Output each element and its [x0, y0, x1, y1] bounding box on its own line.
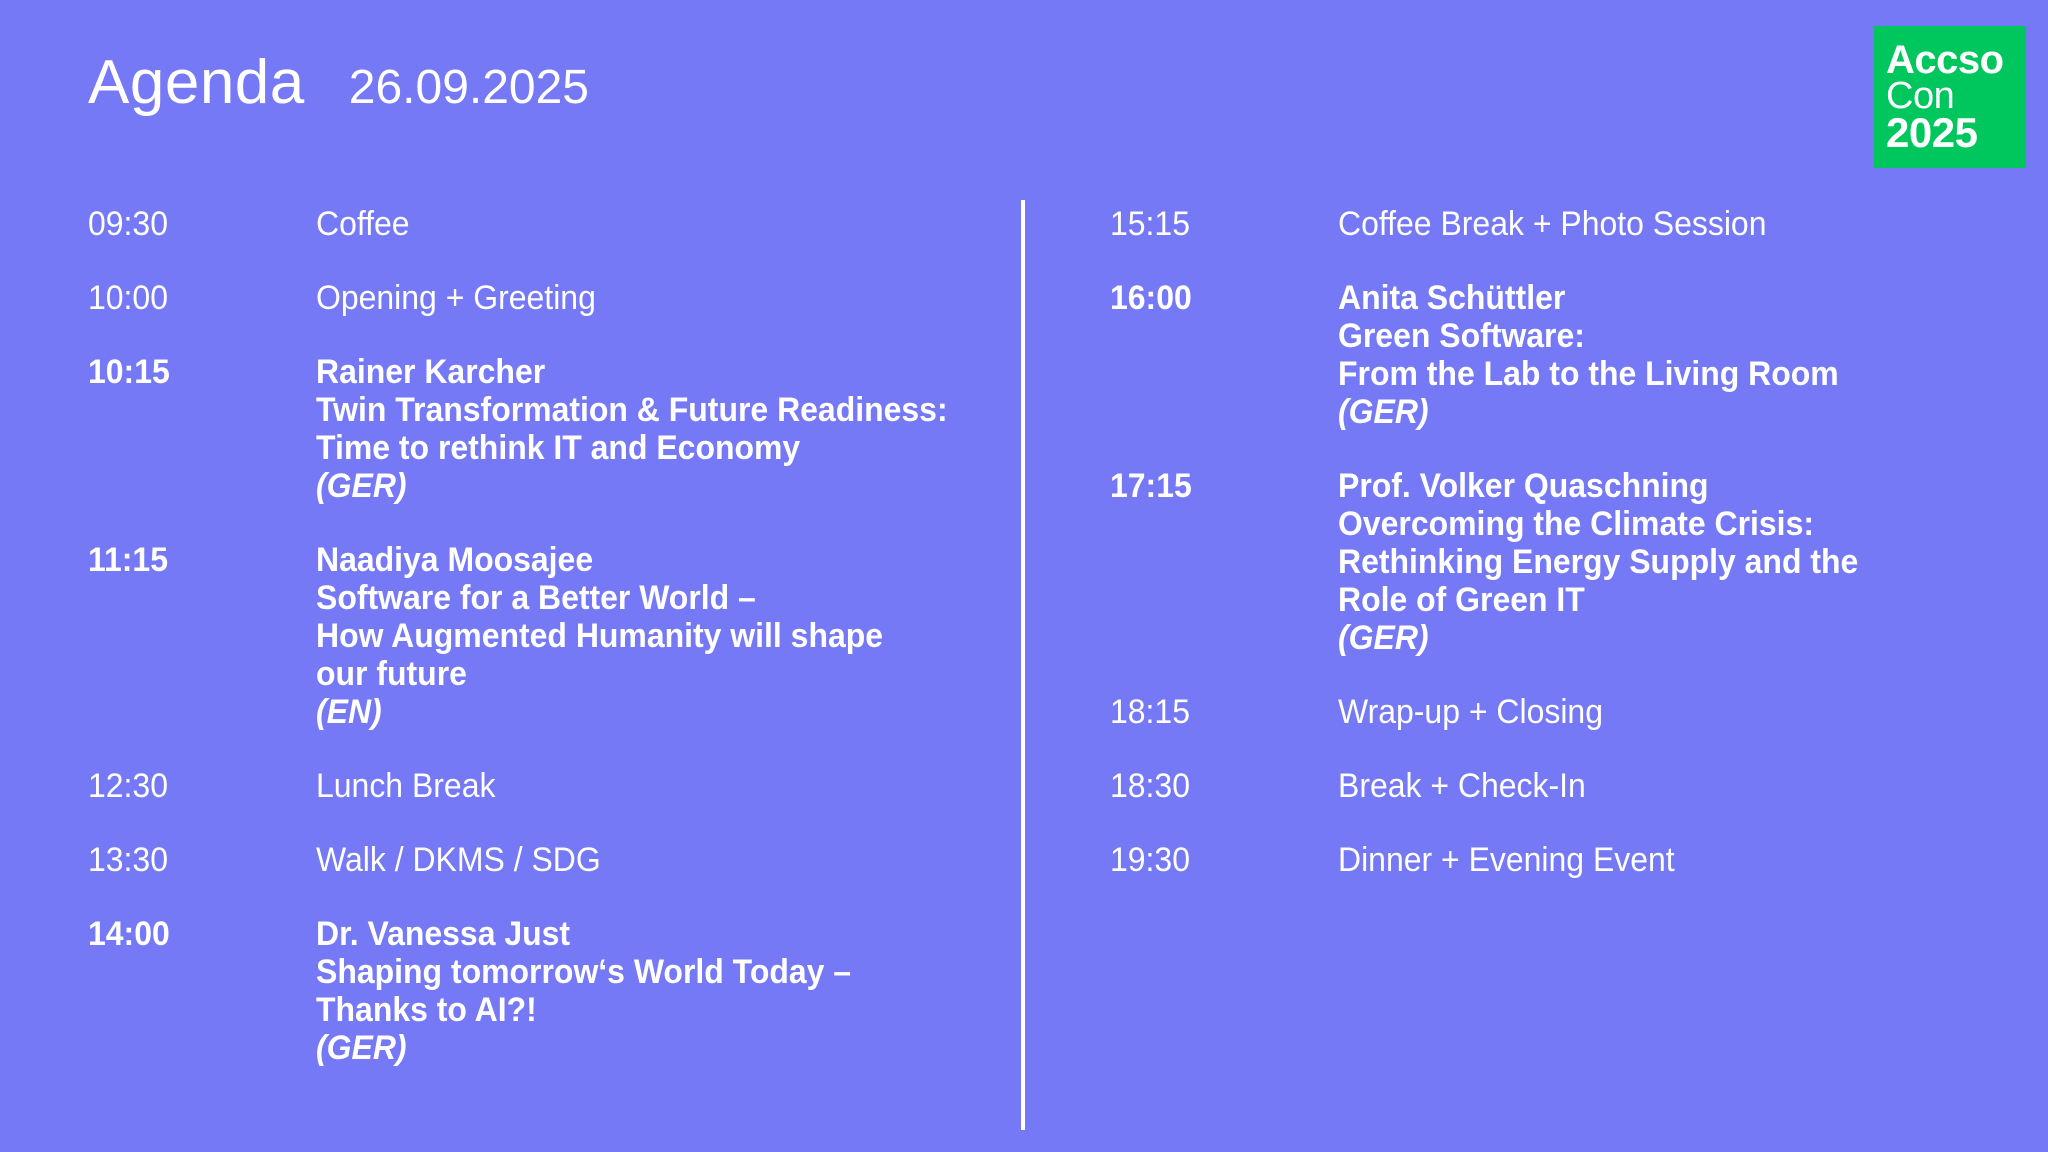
logo-brand-text: Accso — [1886, 41, 2026, 80]
agenda-title-line: How Augmented Humanity will shape — [316, 617, 948, 655]
agenda-entry: Rainer KarcherTwin Transformation & Futu… — [316, 353, 948, 505]
agenda-entry: Coffee Break + Photo Session — [1338, 205, 1979, 243]
agenda-time: 14:00 — [88, 915, 302, 953]
agenda-row: 09:30Coffee — [88, 205, 988, 243]
agenda-title-line: Rethinking Energy Supply and the — [1338, 543, 1979, 581]
agenda-row: 12:30Lunch Break — [88, 767, 988, 805]
agenda-entry: Dinner + Evening Event — [1338, 841, 1979, 879]
agenda-title-line: Wrap-up + Closing — [1338, 693, 1979, 731]
logo-year-text: 2025 — [1886, 112, 2026, 153]
agenda-title-line: Green Software: — [1338, 317, 1979, 355]
agenda-row: 11:15Naadiya MoosajeeSoftware for a Bett… — [88, 541, 988, 731]
agenda-entry: Naadiya MoosajeeSoftware for a Better Wo… — [316, 541, 948, 731]
agenda-entry: Walk / DKMS / SDG — [316, 841, 948, 879]
agenda-time: 18:15 — [1110, 693, 1324, 731]
agenda-speaker: Prof. Volker Quaschning — [1338, 467, 1979, 505]
column-divider — [1021, 200, 1025, 1130]
agenda-title-line: Twin Transformation & Future Readiness: — [316, 391, 948, 429]
agenda-title-line: Walk / DKMS / SDG — [316, 841, 948, 879]
agenda-entry: Dr. Vanessa JustShaping tomorrow‘s World… — [316, 915, 948, 1067]
agenda-title-line: Coffee — [316, 205, 948, 243]
agenda-time: 09:30 — [88, 205, 302, 243]
agenda-speaker: Naadiya Moosajee — [316, 541, 948, 579]
agenda-time: 19:30 — [1110, 841, 1324, 879]
agenda-row: 18:30Break + Check-In — [1110, 767, 2020, 805]
agenda-time: 13:30 — [88, 841, 302, 879]
agenda-title-line: Break + Check-In — [1338, 767, 1979, 805]
agenda-title-line: Coffee Break + Photo Session — [1338, 205, 1979, 243]
agenda-speaker: Dr. Vanessa Just — [316, 915, 948, 953]
agenda-time: 11:15 — [88, 541, 302, 579]
agenda-language-badge: (GER) — [316, 1029, 948, 1067]
agenda-row: 19:30Dinner + Evening Event — [1110, 841, 2020, 879]
agenda-entry: Break + Check-In — [1338, 767, 1979, 805]
agenda-entry: Opening + Greeting — [316, 279, 948, 317]
agenda-title-line: Role of Green IT — [1338, 581, 1979, 619]
page-date: 26.09.2025 — [349, 64, 589, 112]
agenda-time: 10:15 — [88, 353, 302, 391]
agenda-entry: Coffee — [316, 205, 948, 243]
agenda-title-line: Thanks to AI?! — [316, 991, 948, 1029]
agenda-language-badge: (GER) — [1338, 393, 1979, 431]
agenda-language-badge: (GER) — [1338, 619, 1979, 657]
agenda-title-line: Software for a Better World – — [316, 579, 948, 617]
agenda-row: 13:30Walk / DKMS / SDG — [88, 841, 988, 879]
agenda-row: 16:00Anita SchüttlerGreen Software:From … — [1110, 279, 2020, 431]
agenda-title-line: our future — [316, 655, 948, 693]
agenda-row: 14:00Dr. Vanessa JustShaping tomorrow‘s … — [88, 915, 988, 1067]
agenda-time: 17:15 — [1110, 467, 1324, 505]
agenda-language-badge: (EN) — [316, 693, 948, 731]
agenda-title-line: Shaping tomorrow‘s World Today – — [316, 953, 948, 991]
agenda-column-left: 09:30Coffee10:00Opening + Greeting10:15R… — [88, 205, 988, 1103]
agenda-time: 10:00 — [88, 279, 302, 317]
agenda-row: 17:15Prof. Volker QuaschningOvercoming t… — [1110, 467, 2020, 657]
agenda-title-line: Dinner + Evening Event — [1338, 841, 1979, 879]
agenda-language-badge: (GER) — [316, 467, 948, 505]
agenda-speaker: Anita Schüttler — [1338, 279, 1979, 317]
page-title: Agenda — [88, 52, 305, 114]
agenda-entry: Anita SchüttlerGreen Software:From the L… — [1338, 279, 1979, 431]
agenda-title-line: Opening + Greeting — [316, 279, 948, 317]
agenda-time: 15:15 — [1110, 205, 1324, 243]
agenda-time: 12:30 — [88, 767, 302, 805]
agenda-row: 18:15Wrap-up + Closing — [1110, 693, 2020, 731]
agenda-entry: Lunch Break — [316, 767, 948, 805]
agenda-entry: Wrap-up + Closing — [1338, 693, 1979, 731]
agenda-title-line: Time to rethink IT and Economy — [316, 429, 948, 467]
agenda-time: 18:30 — [1110, 767, 1324, 805]
agenda-title-line: Overcoming the Climate Crisis: — [1338, 505, 1979, 543]
agenda-row: 10:00Opening + Greeting — [88, 279, 988, 317]
agenda-title-line: Lunch Break — [316, 767, 948, 805]
accso-con-logo: Accso Con 2025 — [1874, 26, 2026, 168]
agenda-entry: Prof. Volker QuaschningOvercoming the Cl… — [1338, 467, 1979, 657]
agenda-row: 10:15Rainer KarcherTwin Transformation &… — [88, 353, 988, 505]
agenda-column-right: 15:15Coffee Break + Photo Session16:00An… — [1110, 205, 2020, 915]
agenda-time: 16:00 — [1110, 279, 1324, 317]
agenda-row: 15:15Coffee Break + Photo Session — [1110, 205, 2020, 243]
page-header: Agenda 26.09.2025 — [88, 52, 589, 114]
agenda-speaker: Rainer Karcher — [316, 353, 948, 391]
agenda-title-line: From the Lab to the Living Room — [1338, 355, 1979, 393]
